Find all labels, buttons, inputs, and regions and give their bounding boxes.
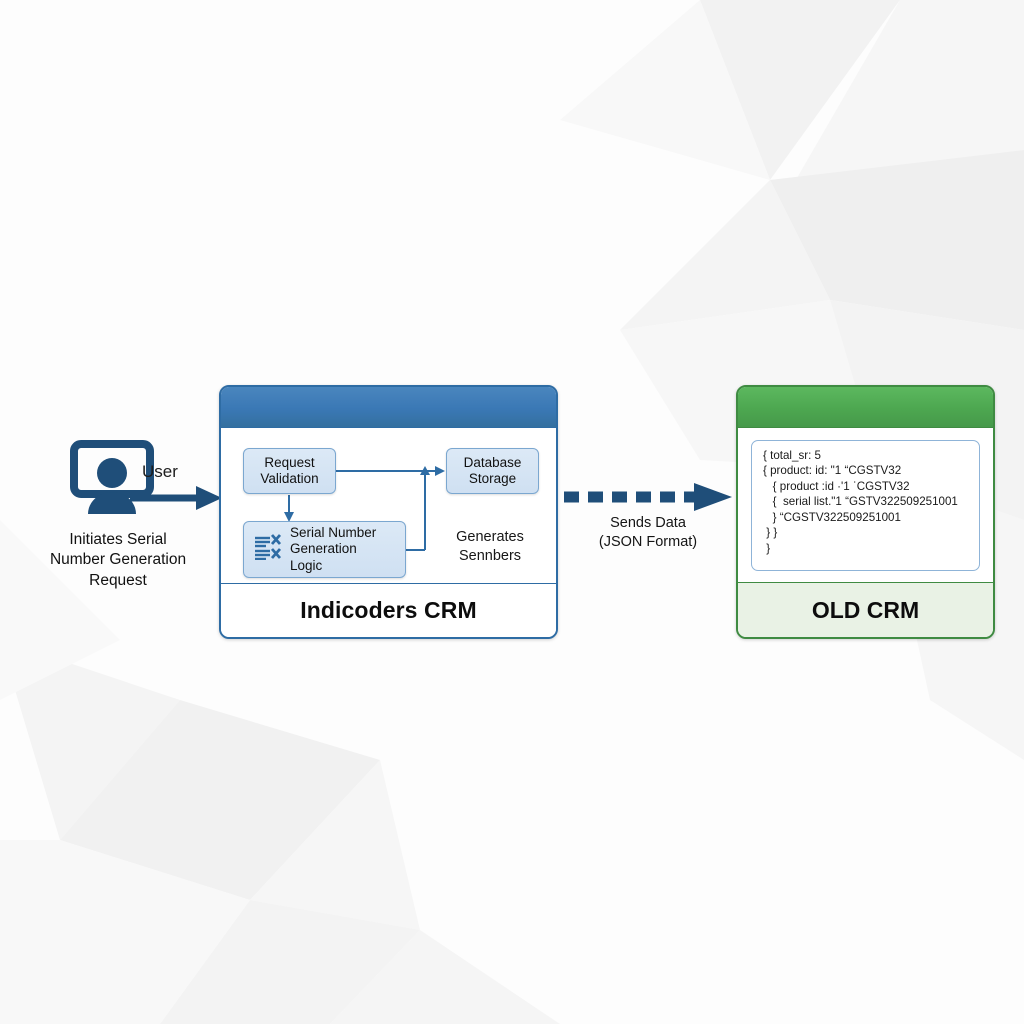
json-payload-panel: { total_sr: 5 { product: id: "1 “CGSTV32… <box>751 440 980 571</box>
user-arrow-label: User <box>142 462 178 482</box>
crm-side-note: Generates Sennbers <box>435 528 545 566</box>
json-line: } <box>763 541 970 557</box>
node-serial-generation-logic-label: Serial Number Generation Logic <box>290 525 376 574</box>
crm-to-oldcrm-arrow: Sends Data (JSON Format) <box>562 482 734 562</box>
json-line: { product :id ·'1 ˈCGSTV32 <box>763 479 970 495</box>
node-request-validation[interactable]: Request Validation <box>243 448 336 494</box>
old-crm-footer: OLD CRM <box>738 583 993 637</box>
old-crm-body: { total_sr: 5 { product: id: "1 “CGSTV32… <box>738 428 993 583</box>
node-serial-generation-logic[interactable]: Serial Number Generation Logic <box>243 521 406 578</box>
old-crm-header-bar <box>738 387 993 428</box>
transfer-label: Sends Data (JSON Format) <box>562 514 734 552</box>
node-database-storage[interactable]: Database Storage <box>446 448 539 494</box>
dashed-arrow-right-icon <box>562 482 734 512</box>
diagram-canvas: Initiates Serial Number Generation Reque… <box>0 0 1024 1024</box>
json-line: { serial list."1 “GSTV322509251001 <box>763 494 970 510</box>
indicoders-crm-card[interactable]: Request Validation Database Storage Seri… <box>219 385 558 639</box>
json-line: } } <box>763 525 970 541</box>
crm-body: Request Validation Database Storage Seri… <box>221 428 556 584</box>
json-line: } “CGSTV322509251001 <box>763 510 970 526</box>
crm-header-bar <box>221 387 556 428</box>
old-crm-card[interactable]: { total_sr: 5 { product: id: "1 “CGSTV32… <box>736 385 995 639</box>
crm-footer-label: Indicoders CRM <box>300 597 476 624</box>
json-line: { product: id: "1 “CGSTV32 <box>763 463 970 479</box>
crm-footer: Indicoders CRM <box>221 584 556 637</box>
old-crm-footer-label: OLD CRM <box>812 597 919 624</box>
list-x-icon <box>254 534 284 560</box>
json-line: { total_sr: 5 <box>763 448 970 464</box>
user-to-crm-arrow: User <box>128 462 224 520</box>
user-caption: Initiates Serial Number Generation Reque… <box>18 530 218 591</box>
